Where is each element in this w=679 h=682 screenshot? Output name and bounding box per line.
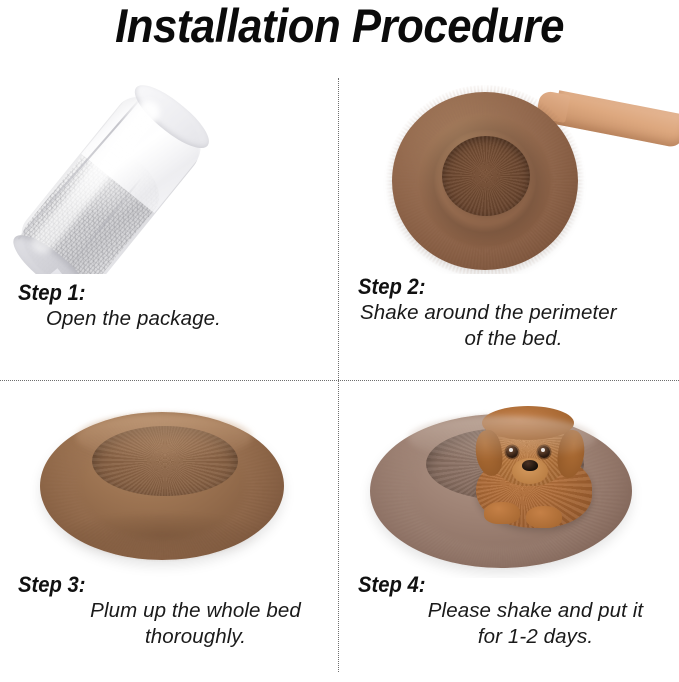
horizontal-divider (0, 380, 679, 381)
step-4-caption: Step 4: Please shake and put it for 1-2 … (340, 572, 679, 650)
step-1-caption: Step 1: Open the package. (0, 280, 339, 332)
step-3-description-line-2: thoroughly. (18, 624, 339, 650)
step-4-panel: Step 4: Please shake and put it for 1-2 … (340, 382, 679, 682)
bed-center-hollow (442, 136, 530, 216)
step-2-description-line-2: of the bed. (358, 326, 679, 352)
step-4-description-line-2: for 1-2 days. (358, 624, 679, 650)
puppy-paw-right (526, 506, 562, 528)
step-1-description-line-1: Open the package. (18, 306, 339, 332)
step-3-description-line-1: Plum up the whole bed (18, 598, 339, 624)
bed-rim-highlight (76, 414, 252, 460)
step-1-label: Step 1: (18, 280, 330, 306)
puppy-nose (522, 460, 538, 471)
step-4-description-line-1: Please shake and put it (358, 598, 679, 624)
step-3-caption: Step 3: Plum up the whole bed thoroughly… (0, 572, 339, 650)
step-3-panel: Step 3: Plum up the whole bed thoroughly… (0, 382, 339, 682)
puppy-paw-left (484, 502, 520, 524)
step-2-panel: Step 2: Shake around the perimeter of th… (340, 78, 679, 378)
pet-bed-top-view (392, 92, 578, 270)
step-3-label: Step 3: (18, 572, 330, 598)
step-2-caption: Step 2: Shake around the perimeter of th… (340, 274, 679, 352)
fluffed-bed-image (0, 382, 339, 578)
bed-rim-highlight (408, 416, 596, 460)
pet-bed-with-puppy (370, 404, 632, 572)
page-title: Installation Procedure (24, 0, 655, 56)
top-view-bed-with-arm-image (340, 78, 679, 274)
pet-bed-three-quarter-view (40, 404, 284, 564)
step-2-description-line-1: Shake around the perimeter (358, 300, 679, 326)
bed-lower-shadow (62, 514, 262, 560)
installation-procedure-page: Installation Procedure Step 1 (0, 0, 679, 672)
step-2-label: Step 2: (358, 274, 670, 300)
step-4-label: Step 4: (358, 572, 670, 598)
step-1-panel: Step 1: Open the package. (0, 78, 339, 378)
puppy-in-bed-image (340, 382, 679, 578)
vacuum-sealed-package-image (0, 78, 339, 274)
